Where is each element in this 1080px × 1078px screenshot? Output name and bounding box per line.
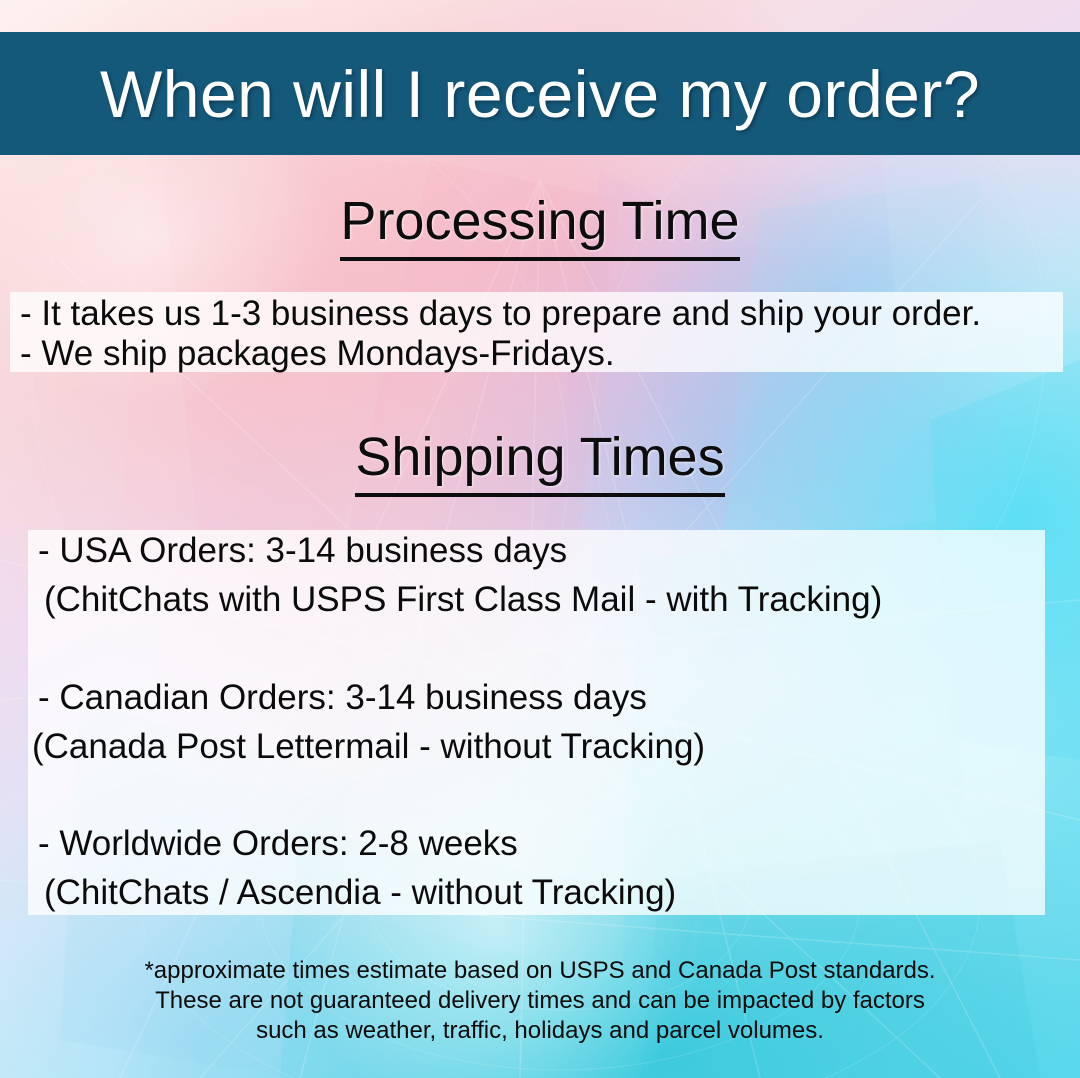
title-banner: When will I receive my order?: [0, 32, 1080, 155]
shipping-policy-poster: When will I receive my order? Processing…: [0, 0, 1080, 1078]
section-heading-shipping-times-label: Shipping Times: [355, 427, 724, 497]
shipping-worldwide-detail: (ChitChats / Ascendia - without Tracking…: [44, 875, 676, 910]
shipping-usa-title: - USA Orders: 3-14 business days: [38, 533, 567, 568]
section-heading-shipping-times: Shipping Times: [0, 430, 1080, 484]
shipping-worldwide-title: - Worldwide Orders: 2-8 weeks: [38, 826, 518, 861]
footer-disclaimer-line-1: *approximate times estimate based on USP…: [0, 956, 1080, 986]
footer-disclaimer-line-3: such as weather, traffic, holidays and p…: [0, 1016, 1080, 1046]
page-title: When will I receive my order?: [100, 61, 980, 127]
section-heading-processing-time-label: Processing Time: [340, 191, 739, 261]
processing-time-line-2: - We ship packages Mondays-Fridays.: [20, 336, 615, 371]
shipping-canada-title: - Canadian Orders: 3-14 business days: [38, 680, 647, 715]
shipping-canada-detail: (Canada Post Lettermail - without Tracki…: [32, 729, 705, 764]
section-heading-processing-time: Processing Time: [0, 194, 1080, 248]
shipping-usa-detail: (ChitChats with USPS First Class Mail - …: [44, 582, 882, 617]
footer-disclaimer-line-2: These are not guaranteed delivery times …: [0, 986, 1080, 1016]
processing-time-line-1: - It takes us 1-3 business days to prepa…: [20, 296, 981, 331]
footer-disclaimer: *approximate times estimate based on USP…: [0, 956, 1080, 1046]
